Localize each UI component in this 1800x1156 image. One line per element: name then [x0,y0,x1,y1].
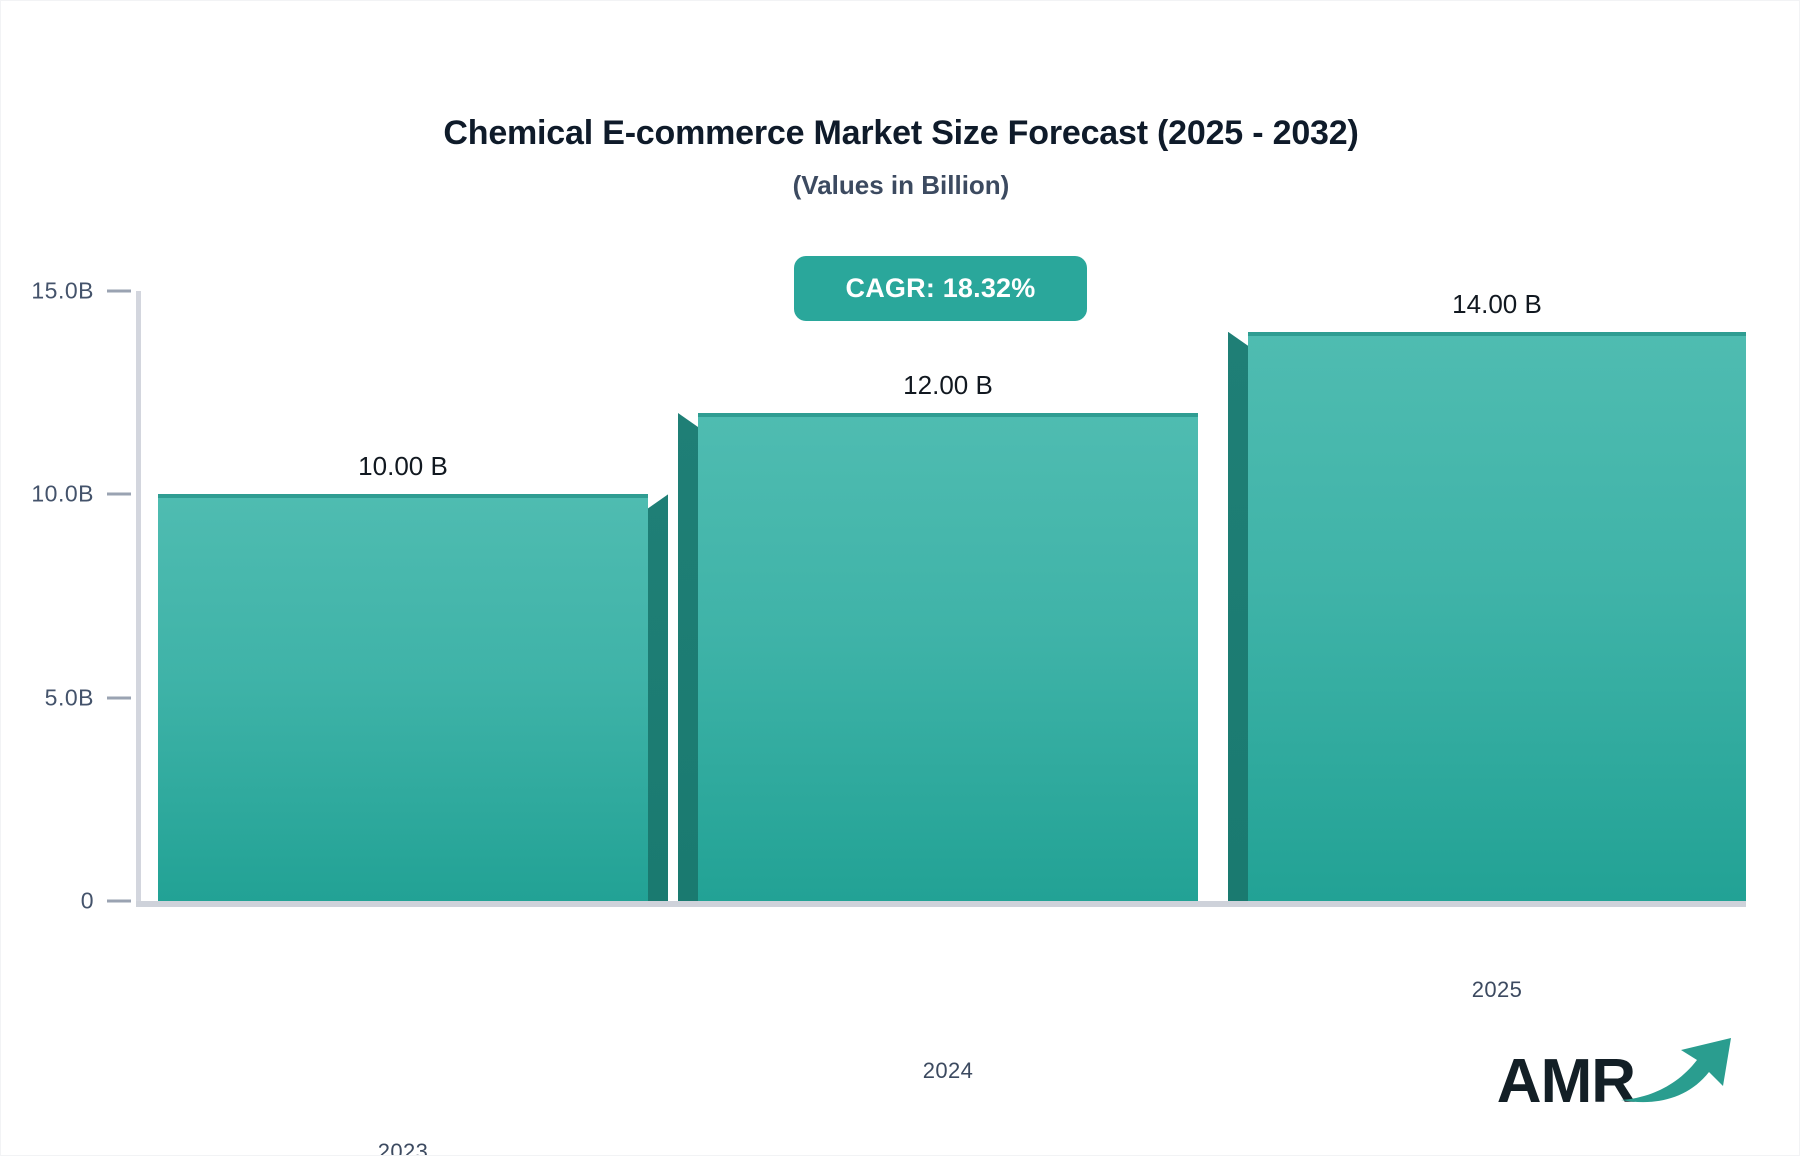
bar-2023[interactable]: 10.00 B 2023 [158,494,648,901]
x-tick-label-2023: 2023 [158,1139,648,1156]
bar-side-panel [648,494,668,901]
y-tick-dash-icon [107,290,131,293]
bar-face [1248,332,1746,901]
growth-arrow-icon [1619,1034,1739,1111]
bar-value-label: 14.00 B [1248,289,1746,320]
bar-top-edge [1248,332,1746,336]
bar-side-panel [678,413,698,901]
x-tick-label-2024: 2024 [698,1058,1198,1084]
y-tick-label: 10.0B [31,481,94,508]
bar-value-label: 12.00 B [698,370,1198,401]
bar-value-label: 10.00 B [158,451,648,482]
y-tick-dash-icon [107,493,131,496]
bar-2025[interactable]: 14.00 B 2025 [1248,332,1746,901]
bar-face [158,494,648,901]
y-tick-dash-icon [107,696,131,699]
y-tick-dash-icon [107,900,131,903]
amr-logo: AMR [1497,1034,1739,1113]
bar-face [698,413,1198,901]
y-tick-label: 5.0B [45,684,94,711]
x-axis-line [136,901,1746,907]
bar-top-edge [158,494,648,498]
title-block: Chemical E-commerce Market Size Forecast… [1,113,1800,201]
bar-2024[interactable]: 12.00 B 2024 [698,413,1198,901]
y-axis-line [136,291,141,901]
amr-logo-text: AMR [1497,1051,1635,1113]
page-title: Chemical E-commerce Market Size Forecast… [1,113,1800,154]
bar-side-panel [1228,332,1248,901]
bar-top-edge [698,413,1198,417]
chart-canvas: Chemical E-commerce Market Size Forecast… [0,0,1800,1156]
y-tick-label: 15.0B [31,278,94,305]
x-tick-label-2025: 2025 [1248,977,1746,1003]
plot-area: 15.0B 10.0B 5.0B 0 10.00 B 2023 [136,291,1746,901]
chart-subtitle: (Values in Billion) [1,170,1800,201]
y-tick-label: 0 [81,888,94,915]
